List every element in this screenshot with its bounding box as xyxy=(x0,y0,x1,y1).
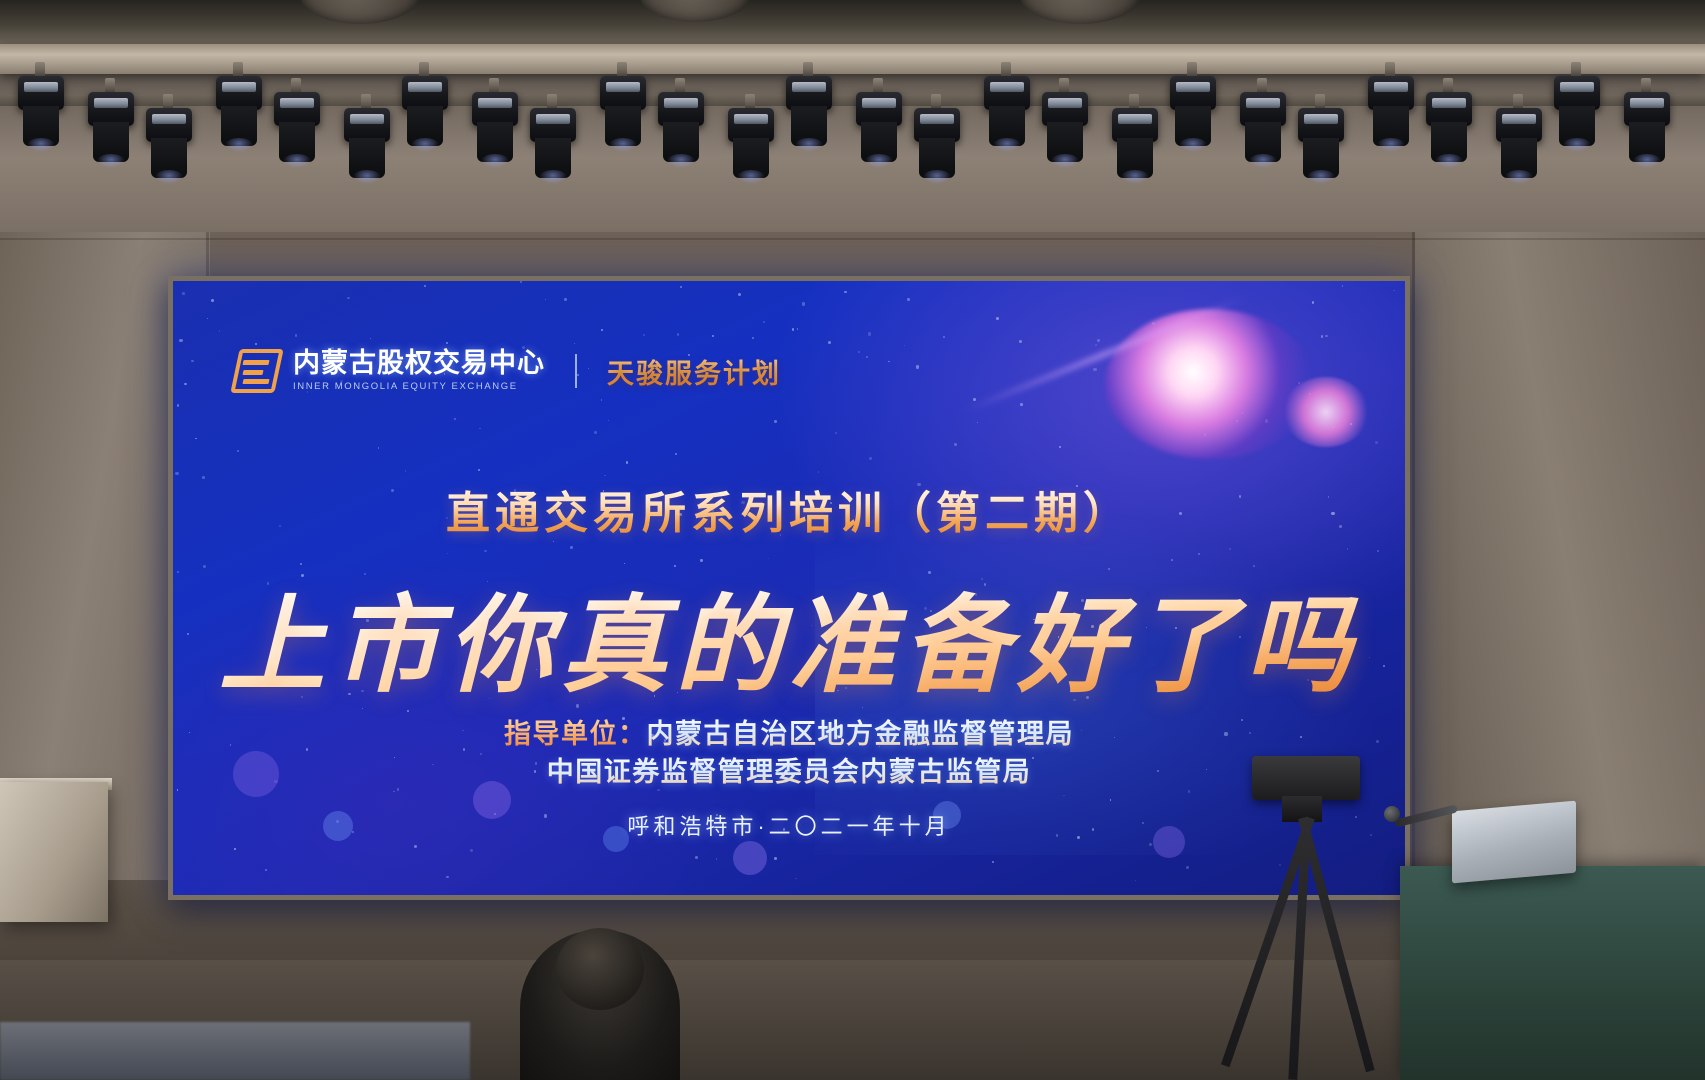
laptop xyxy=(1452,801,1576,884)
program-name: 天骏服务计划 xyxy=(607,352,781,391)
conference-hall-photo: 内蒙古股权交易中心 INNER MONGOLIA EQUITY EXCHANGE… xyxy=(0,0,1705,1080)
guidance-value: 内蒙古自治区地方金融监督管理局 xyxy=(647,719,1075,749)
guidance-label: 指导单位： xyxy=(504,719,647,749)
equity-exchange-logo-icon xyxy=(235,349,279,393)
headline: 上市你真的准备好了吗 xyxy=(173,559,1405,713)
wall-panel-line xyxy=(0,238,1705,240)
green-skirted-table xyxy=(1400,866,1705,1080)
brand-lockup: 内蒙古股权交易中心 INNER MONGOLIA EQUITY EXCHANGE… xyxy=(235,349,781,393)
brand-divider xyxy=(575,354,577,388)
camera-tripod xyxy=(1210,756,1400,1080)
guidance-line: 指导单位：内蒙古自治区地方金融监督管理局 xyxy=(173,715,1405,753)
lighting-truss xyxy=(0,44,1705,74)
lens-flare-secondary-icon xyxy=(1283,377,1369,447)
audience-member-head xyxy=(556,928,644,1010)
podium xyxy=(0,782,108,922)
ceiling-dark-band xyxy=(0,0,1705,46)
lens-flare-icon xyxy=(1105,309,1315,459)
guidance-value: 中国证券监督管理委员会内蒙古监管局 xyxy=(547,757,1032,787)
brand-name-en: INNER MONGOLIA EQUITY EXCHANGE xyxy=(293,382,545,392)
tripod-leg xyxy=(1298,817,1375,1072)
video-camera xyxy=(1252,756,1360,800)
bokeh-circle xyxy=(733,841,767,875)
audience-seating-blur xyxy=(0,1022,470,1080)
series-title: 直通交易所系列培训（第二期） xyxy=(173,477,1405,541)
brand-name-cn: 内蒙古股权交易中心 xyxy=(293,350,545,377)
brand-name-block: 内蒙古股权交易中心 INNER MONGOLIA EQUITY EXCHANGE xyxy=(293,350,545,392)
